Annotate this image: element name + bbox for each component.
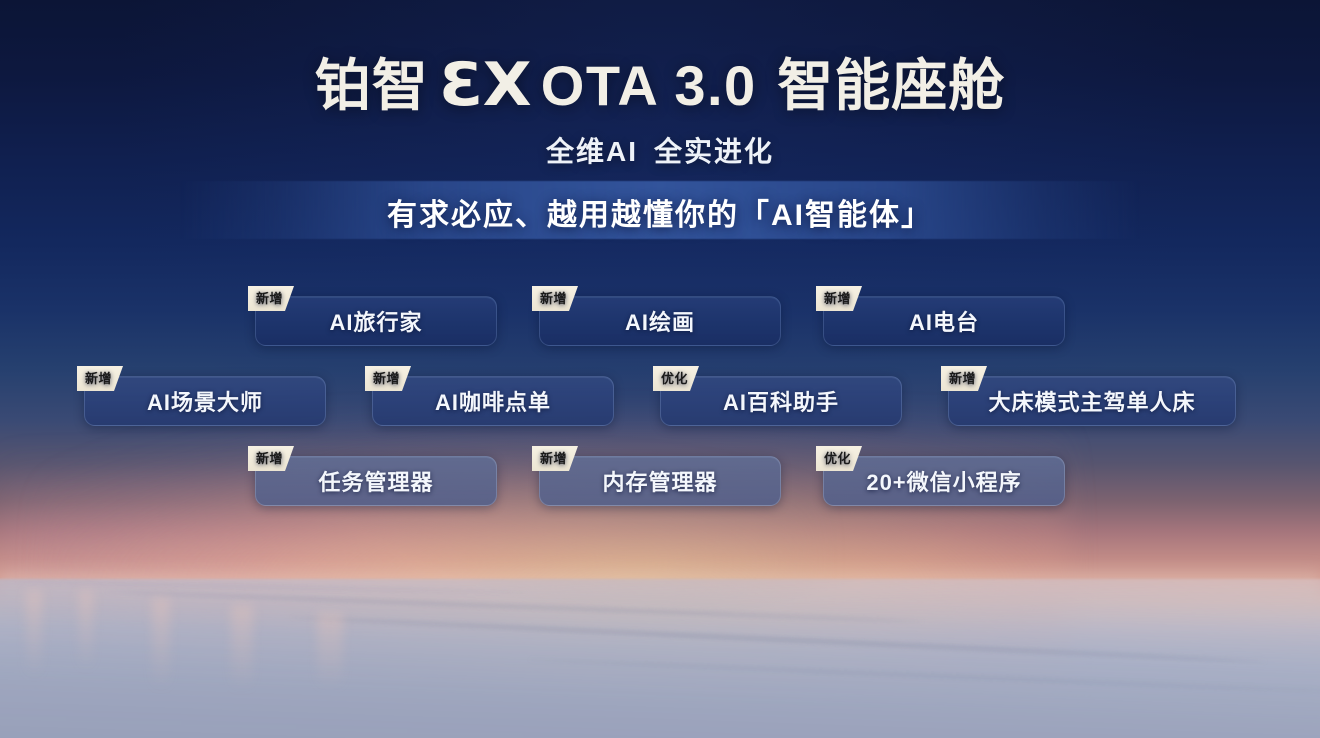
badge-new: 新增 [816,286,862,311]
badge-new: 新增 [365,366,411,391]
feature-row-2: 新增AI场景大师新增AI咖啡点单优化AI百科助手新增大床模式主驾单人床 [0,376,1320,426]
feature-row-3: 新增任务管理器新增内存管理器优化20+微信小程序 [0,456,1320,506]
badge-new: 新增 [532,446,578,471]
badge-new: 新增 [941,366,987,391]
promo-slide: 铂智3XOTA 3.0 智能座舱 全维AI全实进化 有求必应、越用越懂你的「AI… [0,0,1320,738]
feature-pill[interactable]: 新增AI电台 [823,296,1065,346]
page-title: 铂智3XOTA 3.0 智能座舱 [0,54,1320,118]
feature-pill[interactable]: 新增AI咖啡点单 [372,376,614,426]
feature-pill[interactable]: 新增大床模式主驾单人床 [948,376,1236,426]
badge-new: 新增 [532,286,578,311]
feature-pill-label: AI场景大师 [147,385,263,417]
page-subtitle: 全维AI全实进化 [0,130,1320,170]
feature-pill[interactable]: 新增AI场景大师 [84,376,326,426]
feature-pill-label: AI百科助手 [723,385,839,417]
background-ice-plane [0,579,1320,738]
background-reflection [231,605,253,691]
banner-text: 有求必应、越用越懂你的「AI智能体」 [0,190,1320,234]
badge-optimized: 优化 [653,366,699,391]
title-brand: 铂智 [315,54,429,117]
badge-new: 新增 [77,366,123,391]
feature-pill-label: 任务管理器 [318,465,433,497]
feature-pill[interactable]: 新增AI绘画 [539,296,781,346]
feature-pill[interactable]: 优化20+微信小程序 [823,456,1065,506]
feature-pill-label: 大床模式主驾单人床 [988,385,1195,417]
feature-pill-label: AI咖啡点单 [435,385,551,417]
logo-letter-x: X [482,50,533,120]
feature-pill-label: AI绘画 [625,305,695,337]
feature-pill-label: 20+微信小程序 [866,465,1021,497]
feature-pill[interactable]: 新增AI旅行家 [255,296,497,346]
feature-row-1: 新增AI旅行家新增AI绘画新增AI电台 [0,296,1320,346]
logo-digit-3: 3 [436,54,482,118]
model-3x-logo: 3X [436,54,534,118]
feature-grid: 新增AI旅行家新增AI绘画新增AI电台 新增AI场景大师新增AI咖啡点单优化AI… [0,296,1320,536]
badge-new: 新增 [248,286,294,311]
feature-pill-label: AI电台 [909,305,979,337]
subtitle-right: 全实进化 [654,136,774,167]
feature-pill-label: AI旅行家 [329,305,422,337]
feature-pill[interactable]: 新增任务管理器 [255,456,497,506]
badge-new: 新增 [248,446,294,471]
title-suffix: 智能座舱 [777,54,1005,117]
feature-pill[interactable]: 新增内存管理器 [539,456,781,506]
feature-pill[interactable]: 优化AI百科助手 [660,376,902,426]
background-reflection [26,590,42,678]
badge-optimized: 优化 [816,446,862,471]
background-reflection [317,613,343,689]
title-ota-version: OTA 3.0 [541,54,757,117]
background-reflection [79,590,93,670]
subtitle-left: 全维AI [546,136,638,167]
background-reflection [152,598,170,690]
feature-pill-label: 内存管理器 [602,465,717,497]
